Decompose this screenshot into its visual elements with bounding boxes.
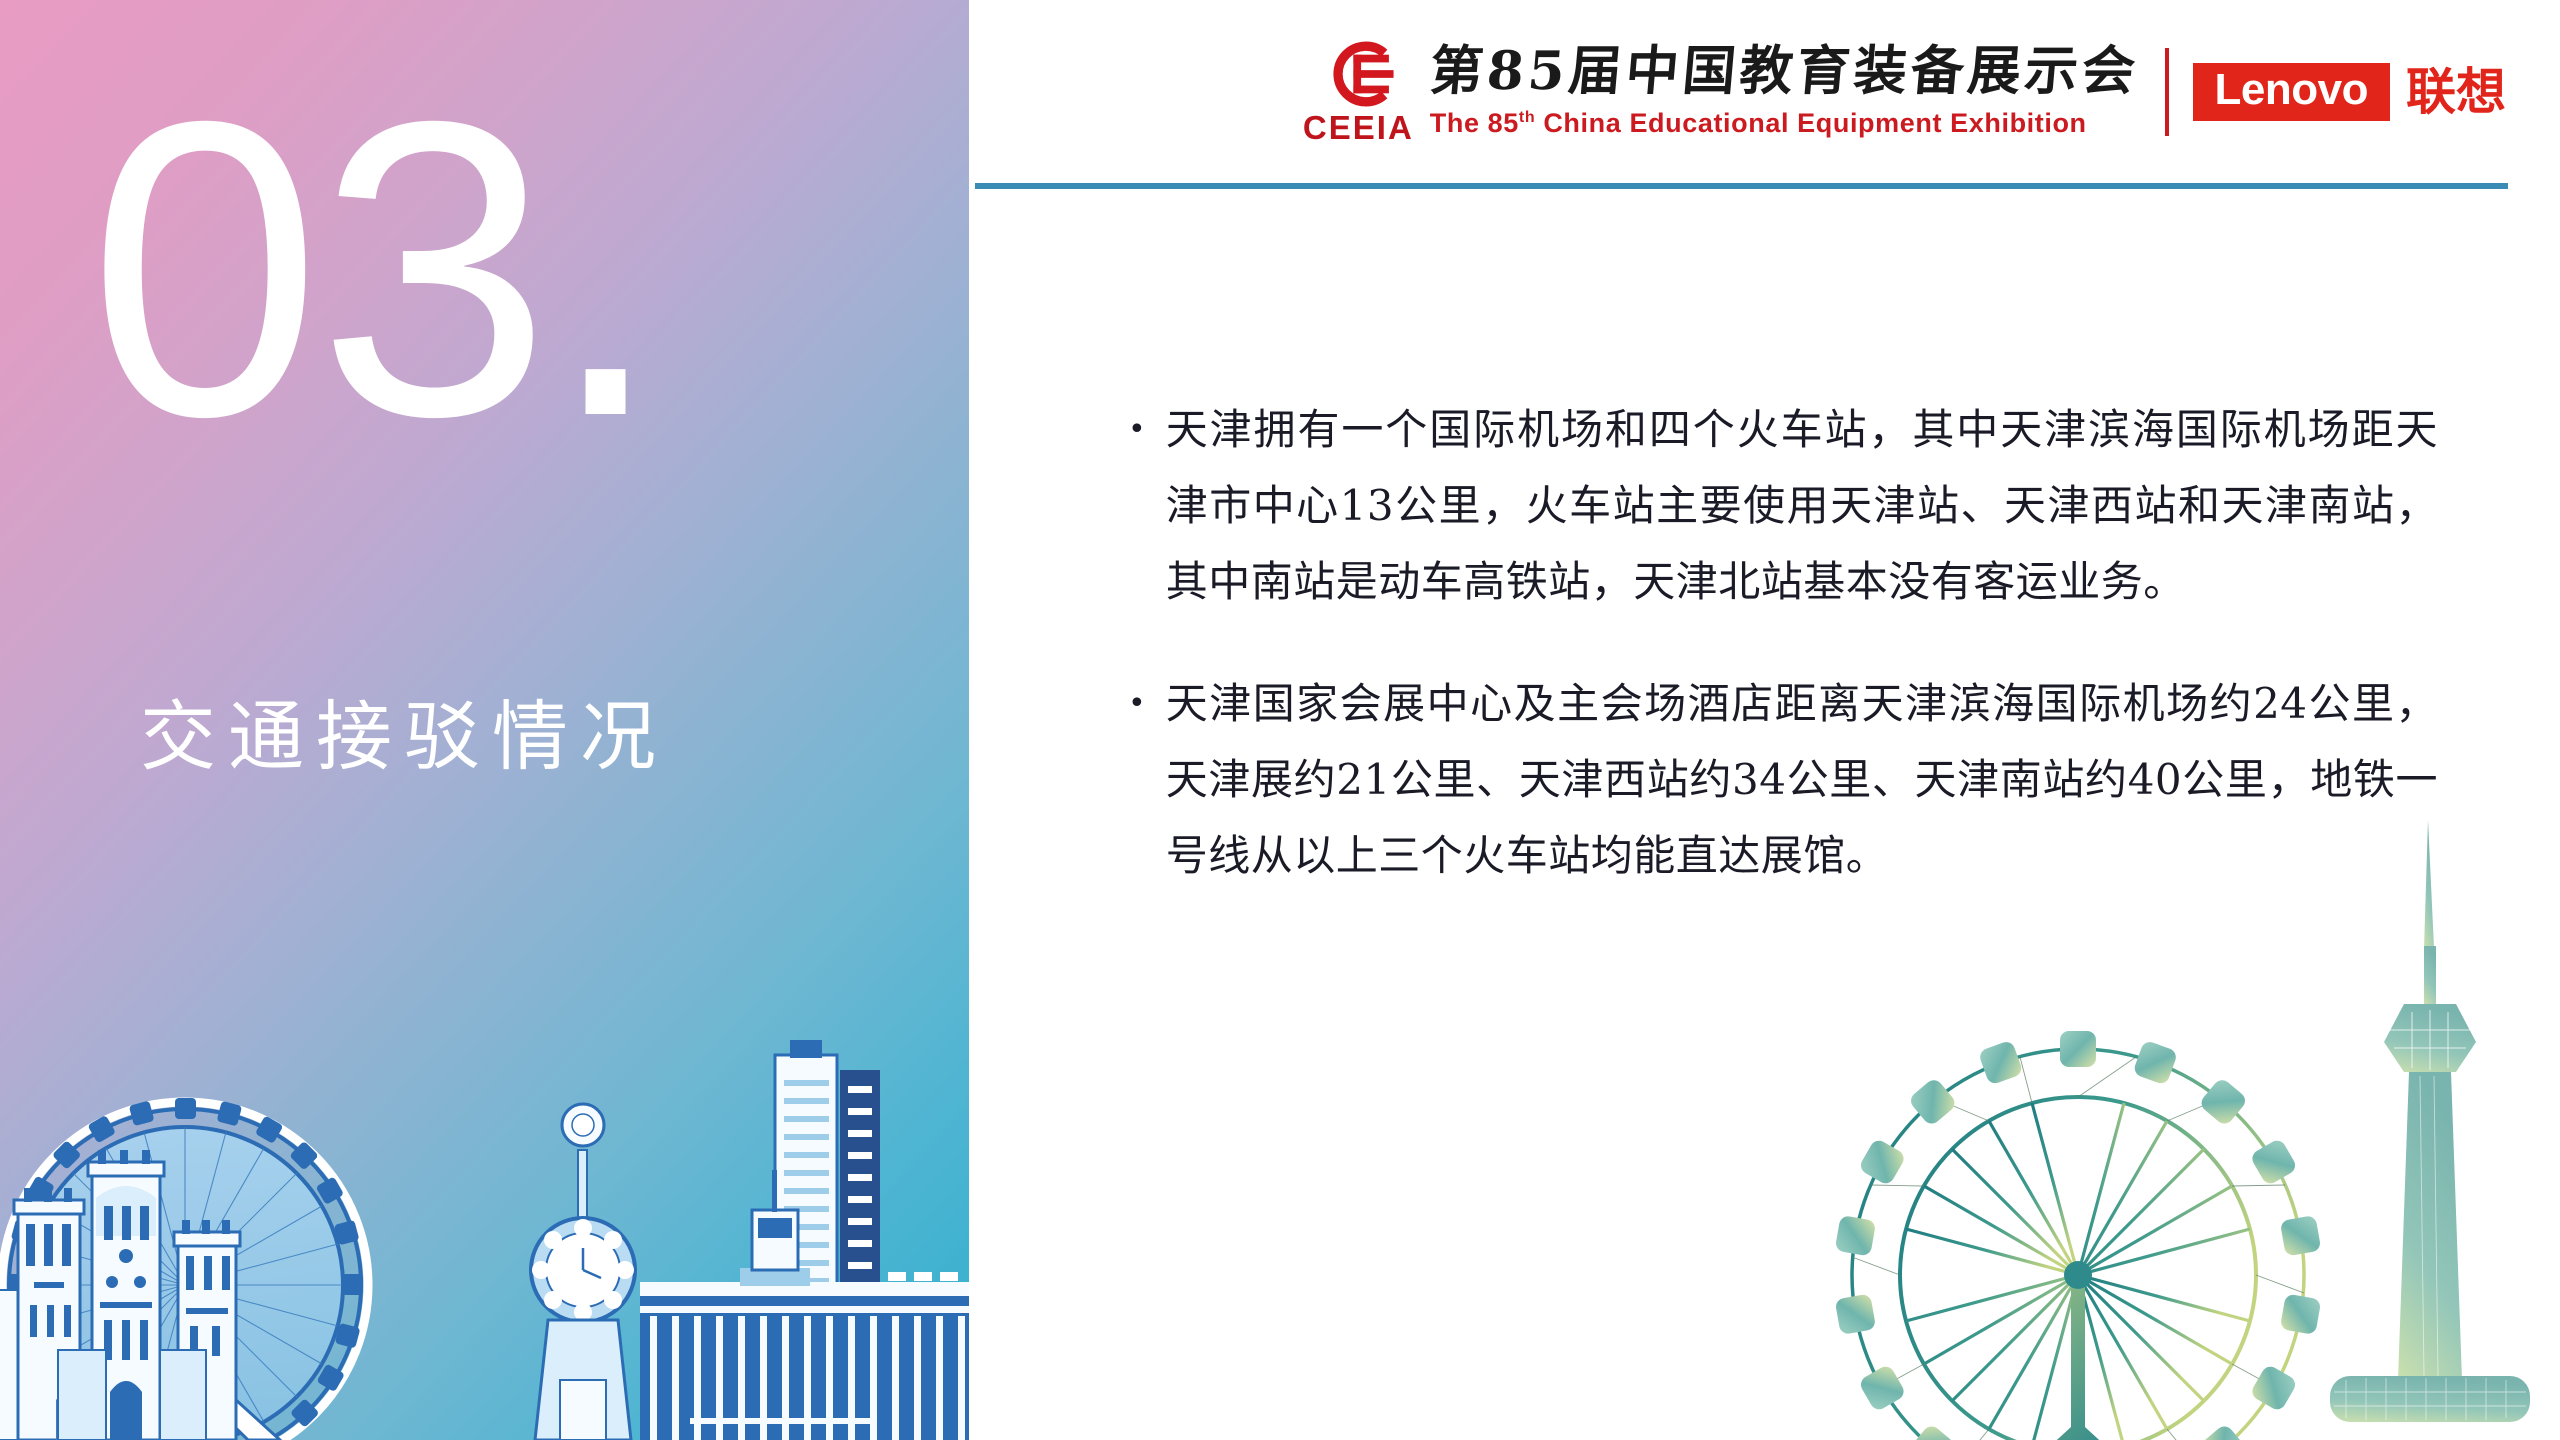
tianjin-skyline-illustration bbox=[0, 1020, 969, 1440]
exhibition-title-en: The 85th China Educational Equipment Exh… bbox=[1430, 107, 2139, 141]
lenovo-logo: Lenovo 联想 bbox=[2193, 63, 2506, 121]
ceeia-wordmark: CEEIA bbox=[1303, 111, 1414, 144]
ordinal-suffix: th bbox=[1519, 109, 1535, 126]
logo-divider bbox=[2165, 48, 2169, 136]
lenovo-wordmark: Lenovo bbox=[2193, 63, 2390, 121]
ceeia-circle-e-icon bbox=[1319, 40, 1397, 108]
exhibition-title-cn: 第85届中国教育装备展示会 bbox=[1427, 43, 2141, 100]
content-body: • 天津拥有一个国际机场和四个火车站，其中天津滨海国际机场距天津市中心13公里，… bbox=[1128, 392, 2438, 940]
paragraph-text: 天津国家会展中心及主会场酒店距离天津滨海国际机场约24公里，天津展约21公里、天… bbox=[1166, 666, 2438, 894]
section-title: 交通接驳情况 bbox=[140, 700, 668, 776]
exhibition-title-en-rest: China Educational Equipment Exhibition bbox=[1535, 108, 2086, 138]
exhibition-title-en-prefix: The 85 bbox=[1430, 108, 1519, 138]
ceeia-logo: CEEIA bbox=[1303, 40, 1414, 144]
right-ferris-wheel bbox=[1835, 1031, 2322, 1440]
header-bar: CEEIA 第85届中国教育装备展示会 The 85th China Educa… bbox=[969, 0, 2560, 186]
exhibition-titles: 第85届中国教育装备展示会 The 85th China Educational… bbox=[1430, 43, 2139, 141]
lenovo-wordmark-cn: 联想 bbox=[2406, 67, 2506, 117]
bullet-glyph: • bbox=[1128, 392, 1166, 620]
left-title-panel: 03. 交通接驳情况 bbox=[0, 0, 969, 1440]
slide-root: 03. 交通接驳情况 bbox=[0, 0, 2560, 1440]
logo-group: CEEIA 第85届中国教育装备展示会 The 85th China Educa… bbox=[1303, 36, 2506, 148]
bullet-paragraph: • 天津拥有一个国际机场和四个火车站，其中天津滨海国际机场距天津市中心13公里，… bbox=[1128, 392, 2438, 620]
header-divider-rule bbox=[975, 183, 2508, 189]
section-number: 03. bbox=[88, 60, 660, 480]
bullet-glyph: • bbox=[1128, 666, 1166, 894]
bullet-paragraph: • 天津国家会展中心及主会场酒店距离天津滨海国际机场约24公里，天津展约21公里… bbox=[1128, 666, 2438, 894]
paragraph-text: 天津拥有一个国际机场和四个火车站，其中天津滨海国际机场距天津市中心13公里，火车… bbox=[1166, 392, 2438, 620]
century-clock bbox=[531, 1104, 635, 1440]
